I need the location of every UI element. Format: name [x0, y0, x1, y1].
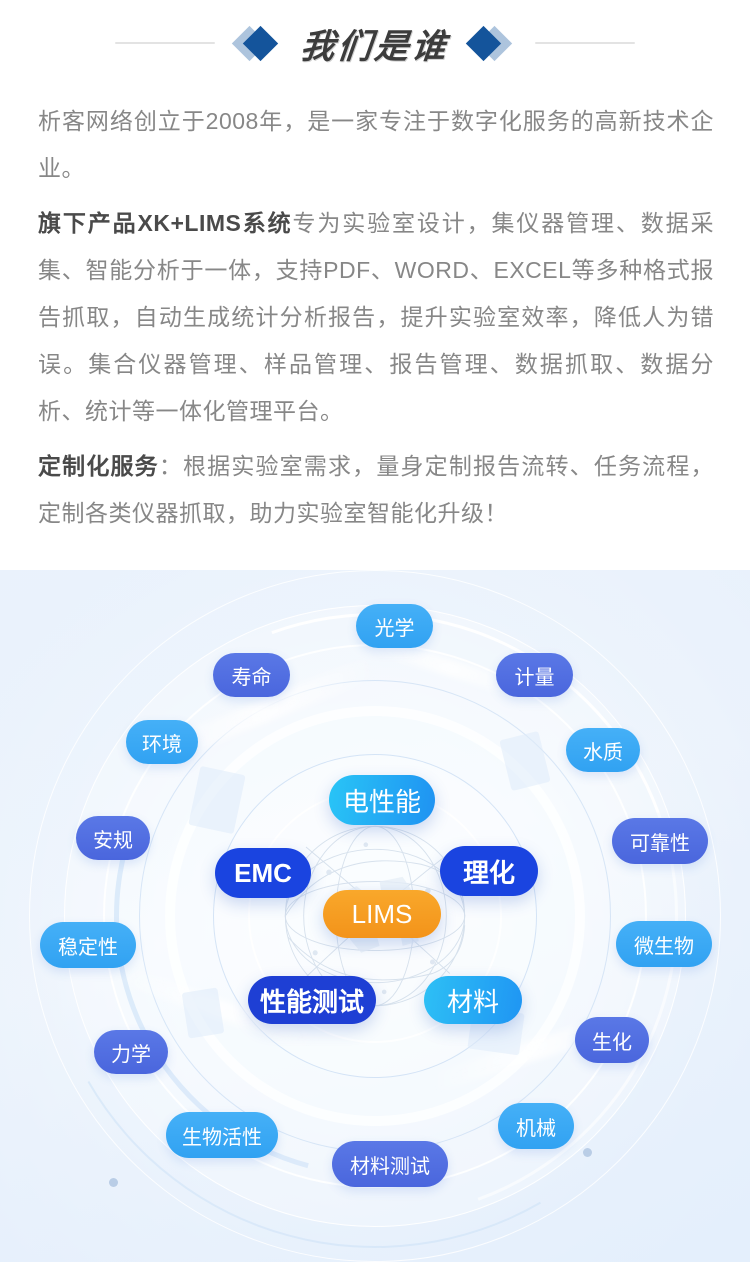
paragraph-3: 定制化服务：根据实验室需求，量身定制报告流转、任务流程，定制各类仪器抓取，助力实… — [38, 443, 714, 537]
paragraph-3-lead: 定制化服务 — [38, 453, 159, 479]
header-rule-left — [115, 42, 215, 44]
tag-pill-材料[interactable]: 材料 — [424, 976, 522, 1024]
paragraph-2-text: 专为实验室设计，集仪器管理、数据采集、智能分析于一体，支持PDF、WORD、EX… — [38, 210, 714, 424]
tag-pill-环境[interactable]: 环境 — [126, 720, 198, 764]
tag-pill-微生物[interactable]: 微生物 — [616, 921, 712, 967]
tag-pill-机械[interactable]: 机械 — [498, 1103, 574, 1149]
tag-pill-稳定性[interactable]: 稳定性 — [40, 922, 136, 968]
tag-pill-光学[interactable]: 光学 — [356, 604, 433, 648]
tag-pill-EMC[interactable]: EMC — [215, 848, 311, 898]
tag-pill-label: 水质 — [583, 736, 623, 765]
paragraph-1-text: 析客网络创立于2008年，是一家专注于数字化服务的高新技术企业。 — [38, 108, 714, 181]
node-dot-2 — [109, 1178, 118, 1187]
tag-pill-label: 性能测试 — [260, 982, 364, 1019]
tag-pill-label: EMC — [234, 858, 292, 889]
tag-pill-label: 生化 — [592, 1026, 632, 1055]
paragraph-2-lead: 旗下产品XK+LIMS系统 — [38, 210, 292, 236]
tag-pill-label: 环境 — [142, 728, 182, 757]
tag-pill-label: 微生物 — [634, 930, 694, 959]
tag-pill-生物活性[interactable]: 生物活性 — [166, 1112, 278, 1158]
tag-pill-label: 光学 — [375, 612, 415, 641]
tag-pill-label: 安规 — [93, 824, 133, 853]
section-header: 我们是谁 — [0, 0, 750, 86]
tag-pill-label: 稳定性 — [58, 931, 118, 960]
diamond-pair-right-icon — [463, 23, 515, 63]
tag-pill-label: 机械 — [516, 1112, 556, 1141]
tag-pill-安规[interactable]: 安规 — [76, 816, 150, 860]
tag-pill-计量[interactable]: 计量 — [496, 653, 573, 697]
node-dot-1 — [583, 1148, 592, 1157]
tag-pill-LIMS[interactable]: LIMS — [323, 890, 441, 938]
tag-pill-label: 材料 — [447, 982, 499, 1019]
tag-pill-label: 电性能 — [343, 782, 421, 819]
page-title: 我们是谁 — [298, 19, 451, 68]
tag-pill-性能测试[interactable]: 性能测试 — [248, 976, 376, 1024]
tag-pill-电性能[interactable]: 电性能 — [329, 775, 435, 825]
tag-pill-label: 计量 — [515, 661, 555, 690]
tag-pill-label: 可靠性 — [630, 827, 690, 856]
paragraph-2: 旗下产品XK+LIMS系统专为实验室设计，集仪器管理、数据采集、智能分析于一体，… — [38, 200, 714, 435]
tag-pill-label: 力学 — [111, 1038, 151, 1067]
tag-pill-label: LIMS — [352, 899, 413, 930]
tag-pill-可靠性[interactable]: 可靠性 — [612, 818, 708, 864]
tag-pill-label: 材料测试 — [350, 1150, 430, 1179]
tag-pill-生化[interactable]: 生化 — [575, 1017, 649, 1063]
tag-pill-力学[interactable]: 力学 — [94, 1030, 168, 1074]
intro-copy: 析客网络创立于2008年，是一家专注于数字化服务的高新技术企业。 旗下产品XK+… — [38, 98, 714, 545]
tag-pill-水质[interactable]: 水质 — [566, 728, 640, 772]
paragraph-1: 析客网络创立于2008年，是一家专注于数字化服务的高新技术企业。 — [38, 98, 714, 192]
tag-pill-label: 寿命 — [232, 661, 272, 690]
tag-pill-寿命[interactable]: 寿命 — [213, 653, 290, 697]
tag-pill-理化[interactable]: 理化 — [440, 846, 538, 896]
header-rule-right — [535, 42, 635, 44]
bg-chip-4 — [182, 987, 225, 1038]
promo-page: 我们是谁 析客网络创立于2008年，是一家专注于数字化服务的高新技术企业。 旗下… — [0, 0, 750, 1262]
diamond-pair-left-icon — [235, 23, 287, 63]
tag-pill-label: 生物活性 — [182, 1121, 262, 1150]
tag-pill-label: 理化 — [463, 853, 515, 890]
tag-pill-材料测试[interactable]: 材料测试 — [332, 1141, 448, 1187]
